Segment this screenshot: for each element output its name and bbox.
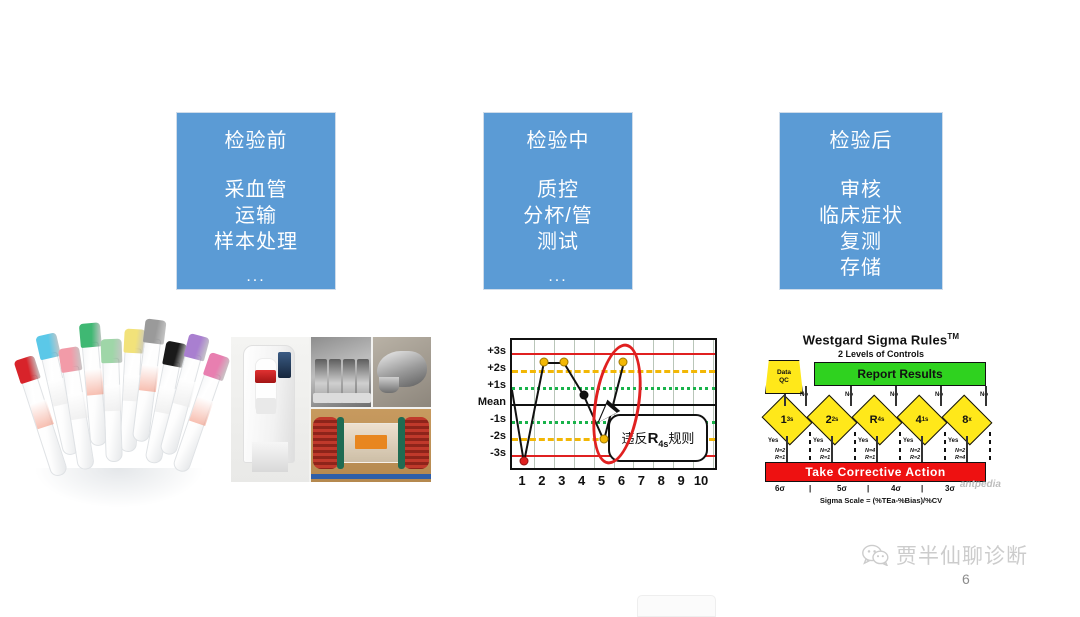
- flow-dashed-riser: [854, 432, 856, 462]
- westgard-title: Westgard Sigma RulesTM: [757, 332, 1005, 347]
- diverter-tip: [379, 377, 399, 393]
- westgard-rule-node: 41s: [902, 404, 942, 436]
- tube-cap: [14, 355, 41, 384]
- phase-item: 测试: [523, 229, 593, 255]
- flow-arrow-down: [786, 436, 788, 462]
- chart-x-tick-label: 7: [638, 474, 645, 488]
- flow-dashed-riser: [989, 432, 991, 462]
- westgard-title-text: Westgard Sigma Rules: [803, 332, 948, 347]
- branch-label-yes: Yes: [768, 438, 778, 444]
- flow-arrow-up: [850, 386, 852, 406]
- phase-item-list: 质控 分杯/管 测试 ...: [523, 177, 593, 285]
- westgard-subtitle: 2 Levels of Controls: [757, 349, 1005, 359]
- tube-label: [30, 399, 54, 429]
- blood-collection-tube: [102, 358, 123, 463]
- carrier-rail: [311, 474, 431, 479]
- chart-x-tick-label: 6: [618, 474, 625, 488]
- tube-cap: [79, 322, 102, 348]
- trademark-symbol: TM: [947, 332, 959, 341]
- chart-y-tick-label: -2s: [490, 431, 506, 442]
- carrier-closeup-photo: [311, 409, 431, 482]
- station-base: [252, 442, 288, 472]
- sigma-tick-mark: |: [809, 484, 811, 493]
- phase-item: 临床症状: [819, 203, 903, 229]
- figure-westgard-sigma-rules: Westgard Sigma RulesTM 2 Levels of Contr…: [757, 330, 1005, 502]
- flow-dashed-riser: [809, 432, 811, 462]
- page-number: 6: [962, 571, 970, 587]
- westgard-rule-node: 8x: [947, 404, 987, 436]
- chart-x-tick-label: 2: [538, 474, 545, 488]
- westgard-rule-node: 22s: [812, 404, 852, 436]
- source-watermark: antpedia: [960, 479, 1001, 490]
- report-results-node: Report Results: [814, 362, 986, 386]
- chart-y-tick-label: Mean: [478, 397, 506, 408]
- phase-item: 复测: [819, 229, 903, 255]
- branch-label-no: No: [800, 392, 808, 398]
- rule-label: R4s: [857, 404, 897, 436]
- phase-box-post-analytical: 检验后 审核 临床症状 复测 存储 ...: [779, 112, 943, 290]
- sigma-scale-formula: Sigma Scale = (%TEa-%Bias)/%CV: [757, 496, 1005, 505]
- data-qc-node: Data QC: [765, 360, 803, 394]
- phase-title: 检验后: [830, 127, 893, 155]
- sigma-tick-label: 4σ: [891, 484, 901, 493]
- figure-pneumatic-transport-collage: [231, 337, 431, 482]
- sigma-tick-label: 6σ: [775, 484, 785, 493]
- branch-label-yes: Yes: [948, 438, 958, 444]
- branch-label-yes: Yes: [903, 438, 913, 444]
- phase-item: 样本处理: [214, 229, 298, 255]
- figure-blood-collection-tubes: [28, 330, 224, 515]
- chart-x-tick-label: 3: [558, 474, 565, 488]
- phase-item-list: 审核 临床症状 复测 存储 ...: [819, 177, 903, 311]
- branch-label-no: No: [935, 392, 943, 398]
- chart-y-axis-labels: +3s+2s+1sMean-1s-2s-3s: [460, 332, 508, 470]
- phase-title: 检验前: [225, 127, 288, 155]
- wechat-account-watermark: 贾半仙聊诊断: [862, 540, 1028, 570]
- chart-data-point: [539, 357, 548, 366]
- wechat-icon: [862, 544, 889, 566]
- chart-line-segment: [511, 390, 525, 463]
- chart-data-point: [519, 457, 528, 466]
- n-r-annotation: N=4R=1: [865, 448, 875, 462]
- flow-arrow-down: [831, 436, 833, 462]
- branch-label-yes: Yes: [813, 438, 823, 444]
- station-screen: [278, 352, 291, 378]
- carrier-seal-right: [403, 417, 429, 469]
- sigma-tick-label: 5σ: [837, 484, 847, 493]
- tube-label: [67, 392, 88, 420]
- carrier-band-left: [337, 417, 344, 469]
- flow-arrow-up: [985, 386, 987, 406]
- figure-levey-jennings-chart: +3s+2s+1sMean-1s-2s-3s 12345678910 违反R4s…: [460, 332, 725, 512]
- tube-cap: [143, 318, 167, 344]
- tube-cap: [183, 333, 209, 362]
- tube-carriers-photo: [311, 337, 371, 407]
- flow-arrow-up: [895, 386, 897, 406]
- chart-data-point: [579, 390, 588, 399]
- n-r-annotation: N=2R=4: [955, 448, 965, 462]
- n-r-annotation: N=2R=1: [775, 448, 785, 462]
- chart-x-tick-label: 4: [578, 474, 585, 488]
- chart-y-tick-label: +1s: [487, 380, 506, 391]
- phase-item: 采血管: [214, 177, 298, 203]
- flow-arrow-up: [805, 386, 807, 406]
- phase-ellipsis: ...: [819, 295, 903, 311]
- tube-label: [173, 378, 196, 408]
- wechat-account-name: 贾半仙聊诊断: [896, 540, 1028, 570]
- flow-arrow-down: [921, 436, 923, 462]
- phase-item-list: 采血管 运输 样本处理 ...: [214, 177, 298, 285]
- chart-x-tick-label: 1: [518, 474, 525, 488]
- phase-box-pre-analytical: 检验前 采血管 运输 样本处理 ...: [176, 112, 336, 290]
- chart-data-point: [559, 357, 568, 366]
- phase-ellipsis: ...: [523, 269, 593, 285]
- branch-label-no: No: [890, 392, 898, 398]
- station-panel: [256, 398, 276, 414]
- carrier-seal-left: [313, 417, 339, 469]
- flow-arrow-down: [966, 436, 968, 462]
- chart-y-tick-label: +3s: [487, 346, 506, 357]
- flow-dashed-riser: [944, 432, 946, 462]
- tube-label: [139, 364, 159, 392]
- sigma-tick-label: 3σ: [945, 484, 955, 493]
- flow-arrow-up: [940, 386, 942, 406]
- branch-label-no: No: [845, 392, 853, 398]
- tube-cap: [101, 339, 123, 364]
- phase-item: 分杯/管: [523, 203, 593, 229]
- chart-x-tick-label: 5: [598, 474, 605, 488]
- n-r-annotation: N=2R=1: [820, 448, 830, 462]
- bottom-toolbar-chip[interactable]: [637, 595, 716, 617]
- westgard-rule-node: R4s: [857, 404, 897, 436]
- take-corrective-action-node: Take Corrective Action: [765, 462, 986, 482]
- slide-canvas: 检验前 采血管 运输 样本处理 ... 检验中 质控 分杯/管 测试 ... 检…: [0, 0, 1080, 606]
- chart-x-axis-labels: 12345678910: [510, 474, 717, 492]
- chart-y-tick-label: +2s: [487, 363, 506, 374]
- rule-label: 41s: [902, 404, 942, 436]
- phase-item: 存储: [819, 255, 903, 281]
- chart-x-tick-label: 10: [694, 474, 708, 488]
- phase-item: 审核: [819, 177, 903, 203]
- n-r-annotation: N=2R=2: [910, 448, 920, 462]
- chart-x-tick-label: 8: [658, 474, 665, 488]
- branch-label-yes: Yes: [858, 438, 868, 444]
- station-slot: [255, 370, 276, 383]
- station-body: [243, 345, 295, 463]
- sigma-tick-mark: |: [867, 484, 869, 493]
- chart-y-tick-label: -3s: [490, 448, 506, 459]
- pneumatic-station-photo: [231, 337, 309, 482]
- carrier-band-right: [398, 417, 405, 469]
- westgard-rule-node: 13s: [767, 404, 807, 436]
- tube-label: [189, 396, 214, 426]
- phase-title: 检验中: [527, 127, 590, 155]
- phase-item: 质控: [523, 177, 593, 203]
- tube-cap: [35, 332, 61, 360]
- flow-dashed-riser: [899, 432, 901, 462]
- phase-box-analytical: 检验中 质控 分杯/管 测试 ...: [483, 112, 633, 290]
- rule-label: 13s: [767, 404, 807, 436]
- phase-item: 运输: [214, 203, 298, 229]
- carrier-label-note: [355, 435, 387, 449]
- branch-label-no: No: [980, 392, 988, 398]
- tube-cap: [58, 346, 82, 373]
- chart-y-tick-label: -1s: [490, 414, 506, 425]
- rule-label: 22s: [812, 404, 852, 436]
- diverter-photo: [373, 337, 431, 407]
- tube-label: [104, 385, 122, 412]
- rule-label: 8x: [947, 404, 987, 436]
- tube-label: [85, 368, 104, 395]
- sigma-tick-mark: |: [921, 484, 923, 493]
- tube-cap: [203, 352, 231, 382]
- flow-arrow-down: [876, 436, 878, 462]
- phase-ellipsis: ...: [214, 269, 298, 285]
- chart-x-tick-label: 9: [678, 474, 685, 488]
